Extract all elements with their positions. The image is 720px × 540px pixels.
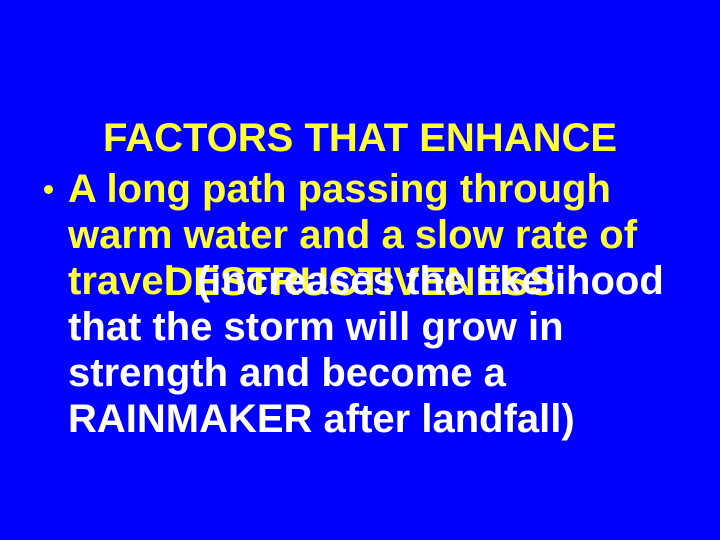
presentation-slide: FACTORS THAT ENHANCE DESTRUCTIVENESS A l… (0, 0, 720, 540)
title-line-1: FACTORS THAT ENHANCE (0, 114, 720, 162)
list-item: A long path passing through warm water a… (44, 166, 684, 442)
body-content: A long path passing through warm water a… (44, 166, 684, 442)
bullet-item-text: A long path passing through warm water a… (68, 167, 675, 441)
bullet-icon (44, 185, 53, 194)
